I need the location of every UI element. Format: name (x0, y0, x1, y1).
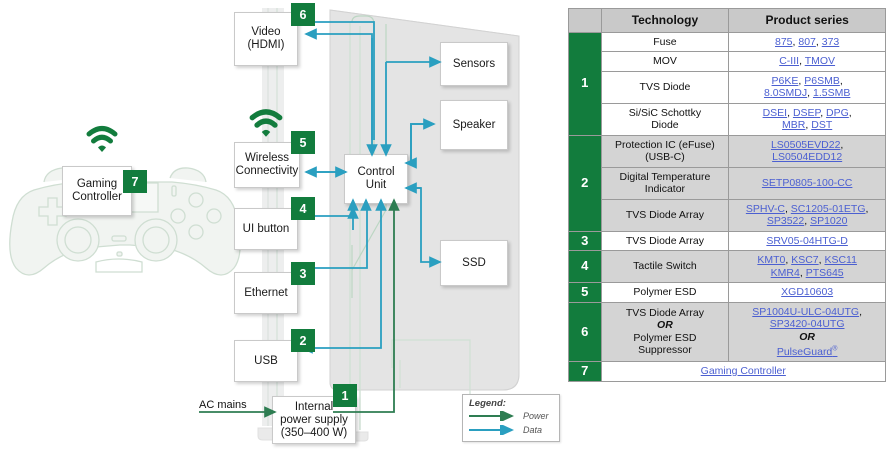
control-unit-label-2: Unit (366, 179, 386, 191)
ac-mains-label: AC mains (199, 399, 247, 411)
box-ssd-label: SSD (462, 257, 486, 270)
psu-label-2: power supply (280, 414, 348, 426)
wifi-icon-wireless (248, 108, 284, 138)
box-gaming-controller[interactable]: Gaming Controller (62, 166, 132, 216)
controller-label-2: Controller (72, 191, 122, 203)
badge-2[interactable]: 2 (291, 329, 315, 352)
legend-title: Legend: (469, 398, 506, 409)
box-control-unit[interactable]: Control Unit (344, 154, 408, 204)
box-video-label-1: Video (251, 26, 280, 38)
box-speaker[interactable]: Speaker (440, 100, 508, 150)
box-ui-button-label: UI button (243, 223, 290, 236)
badge-4[interactable]: 4 (291, 197, 315, 220)
box-ssd[interactable]: SSD (440, 240, 508, 286)
badge-5[interactable]: 5 (291, 131, 315, 154)
box-ethernet[interactable]: Ethernet (234, 272, 298, 314)
box-video-hdmi[interactable]: Video (HDMI) (234, 12, 298, 66)
wifi-icon-controller (85, 125, 119, 153)
legend: Legend: Power Data (462, 394, 560, 442)
legend-power-arrow-icon (468, 411, 520, 421)
box-usb-label: USB (254, 355, 278, 368)
diagram-page: Video (HDMI) 6 Wireless Connectivity 5 U… (0, 0, 888, 450)
box-sensors[interactable]: Sensors (440, 42, 508, 86)
box-wireless-label-1: Wireless (245, 152, 289, 164)
box-video-label-2: (HDMI) (247, 39, 284, 51)
badge-7[interactable]: 7 (123, 170, 147, 193)
box-sensors-label: Sensors (453, 58, 495, 71)
legend-data-arrow-icon (468, 425, 520, 435)
box-ethernet-label: Ethernet (244, 287, 287, 300)
psu-label-3: (350–400 W) (281, 427, 347, 439)
psu-label-1: Internal (295, 401, 333, 413)
box-usb[interactable]: USB (234, 340, 298, 382)
legend-data-label: Data (523, 425, 542, 435)
box-ui-button[interactable]: UI button (234, 208, 298, 250)
control-unit-label-1: Control (357, 166, 394, 178)
legend-power-label: Power (523, 411, 549, 421)
box-wireless-label-2: Connectivity (236, 165, 299, 177)
badge-3[interactable]: 3 (291, 262, 315, 285)
box-speaker-label: Speaker (453, 119, 496, 132)
controller-label-1: Gaming (77, 178, 117, 190)
badge-6[interactable]: 6 (291, 3, 315, 26)
badge-1[interactable]: 1 (333, 384, 357, 407)
